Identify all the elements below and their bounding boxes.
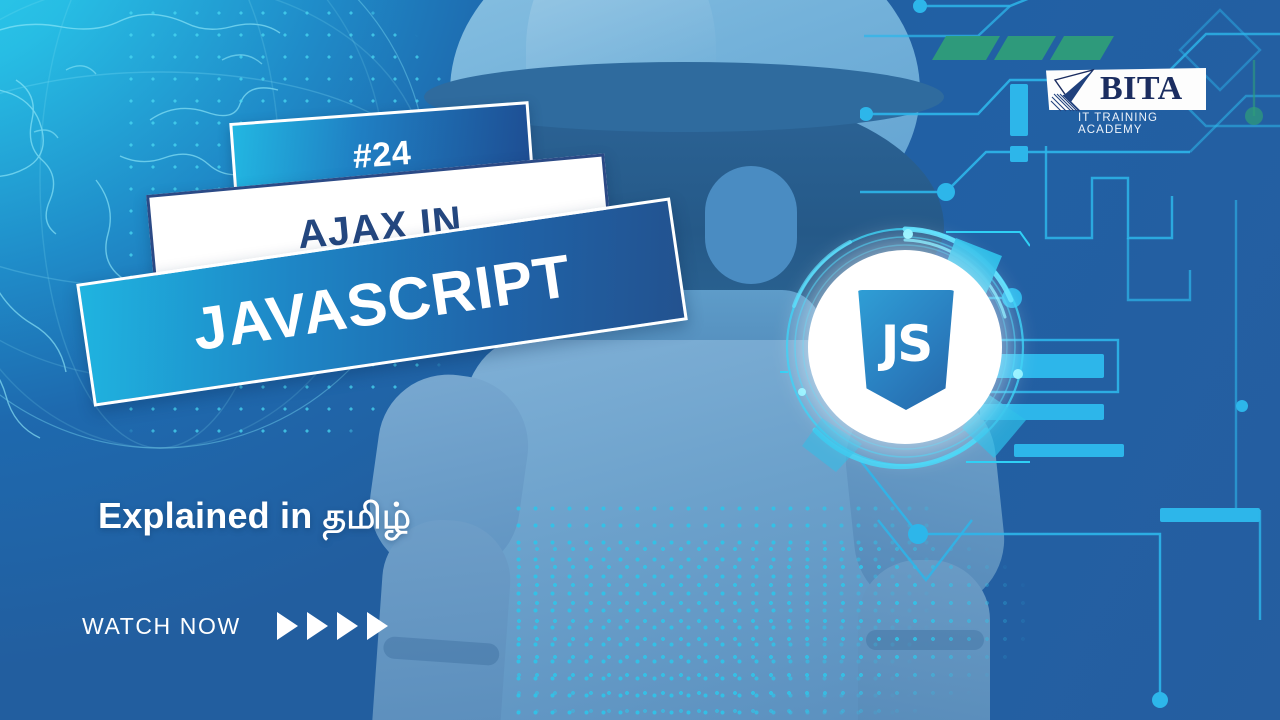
subtitle-text: Explained in தமிழ் <box>98 495 411 542</box>
thumbnail-canvas: JS #24 AJAX IN JAVASCRIPT Explained in த… <box>0 0 1280 720</box>
brand-tagline: IT TRAINING ACADEMY <box>1078 112 1214 136</box>
watch-now-label: WATCH NOW <box>82 613 241 640</box>
brand-logo: BITA IT TRAINING ACADEMY <box>1046 68 1214 134</box>
brand-name: BITA <box>1100 68 1206 110</box>
play-arrows <box>277 612 388 640</box>
play-arrow-icon <box>307 612 328 640</box>
watch-now-cta[interactable]: WATCH NOW <box>82 612 388 640</box>
js-logo-emblem: JS <box>780 222 1030 472</box>
play-arrow-icon <box>277 612 298 640</box>
js-logo-text: JS <box>854 290 958 410</box>
play-arrow-icon <box>367 612 388 640</box>
play-arrow-icon <box>337 612 358 640</box>
